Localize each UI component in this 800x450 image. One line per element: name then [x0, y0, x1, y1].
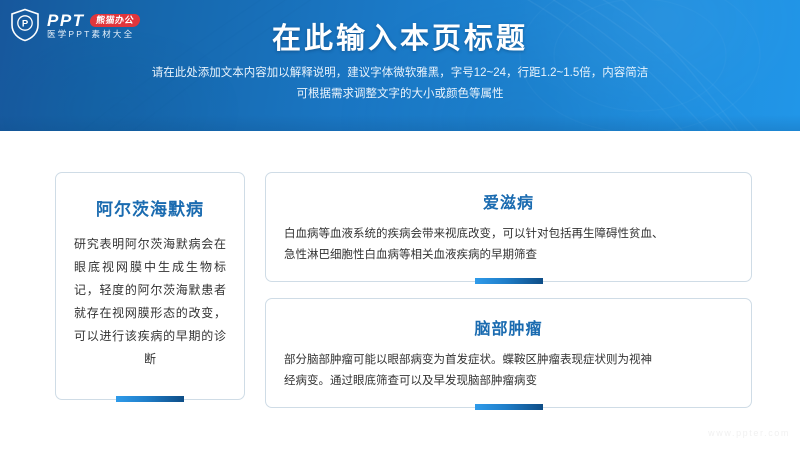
brand-logo[interactable]: P PPT 熊猫办公 医学PPT素材大全	[10, 8, 140, 42]
page-subtitle-line-1: 请在此处添加文本内容加以解释说明，建议字体微软雅黑，字号12~24，行距1.2~…	[0, 63, 800, 84]
svg-text:P: P	[22, 19, 29, 30]
cards-area: 阿尔茨海默病 研究表明阿尔茨海默病会在眼底视网膜中生成生物标记，轻度的阿尔茨海默…	[0, 131, 800, 450]
card-brain-tumor-body-line-1: 部分脑部肿瘤可能以眼部病变为首发症状。蝶鞍区肿瘤表现症状则为视神	[284, 350, 733, 371]
card-aids[interactable]: 爱滋病 白血病等血液系统的疾病会带来视底改变，可以针对包括再生障碍性贫血、 急性…	[265, 172, 752, 282]
logo-text-block: PPT 熊猫办公 医学PPT素材大全	[47, 12, 140, 39]
card-aids-title: 爱滋病	[284, 189, 733, 213]
logo-badge: 熊猫办公	[89, 14, 141, 27]
card-alzheimers-body: 研究表明阿尔茨海默病会在眼底视网膜中生成生物标记，轻度的阿尔茨海默患者就存在视网…	[70, 233, 230, 371]
logo-tagline: 医学PPT素材大全	[47, 30, 140, 39]
card-alzheimers[interactable]: 阿尔茨海默病 研究表明阿尔茨海默病会在眼底视网膜中生成生物标记，轻度的阿尔茨海默…	[55, 172, 245, 400]
card-aids-body-line-2: 急性淋巴细胞性白血病等相关血液疾病的早期筛查	[284, 245, 733, 266]
card-brain-tumor-title: 脑部肿瘤	[284, 315, 733, 339]
card-alzheimers-accent-bar	[116, 396, 184, 402]
page-subtitle: 请在此处添加文本内容加以解释说明，建议字体微软雅黑，字号12~24，行距1.2~…	[0, 63, 800, 105]
card-aids-body: 白血病等血液系统的疾病会带来视底改变，可以针对包括再生障碍性贫血、 急性淋巴细胞…	[284, 224, 733, 266]
page-subtitle-line-2: 可根据需求调整文字的大小或颜色等属性	[0, 84, 800, 105]
card-brain-tumor[interactable]: 脑部肿瘤 部分脑部肿瘤可能以眼部病变为首发症状。蝶鞍区肿瘤表现症状则为视神 经病…	[265, 298, 752, 408]
card-alzheimers-title: 阿尔茨海默病	[70, 195, 230, 220]
banner-bottom-fade	[0, 115, 800, 131]
logo-brand-text: PPT	[47, 12, 85, 29]
site-watermark: www.ppter.com	[708, 428, 790, 438]
shield-icon: P	[10, 8, 40, 42]
card-brain-tumor-body: 部分脑部肿瘤可能以眼部病变为首发症状。蝶鞍区肿瘤表现症状则为视神 经病变。通过眼…	[284, 350, 733, 392]
card-brain-tumor-accent-bar	[475, 404, 543, 410]
card-brain-tumor-body-line-2: 经病变。通过眼底筛查可以及早发现脑部肿瘤病变	[284, 371, 733, 392]
card-aids-accent-bar	[475, 278, 543, 284]
logo-primary-row: PPT 熊猫办公	[47, 12, 140, 29]
card-aids-body-line-1: 白血病等血液系统的疾病会带来视底改变，可以针对包括再生障碍性贫血、	[284, 224, 733, 245]
